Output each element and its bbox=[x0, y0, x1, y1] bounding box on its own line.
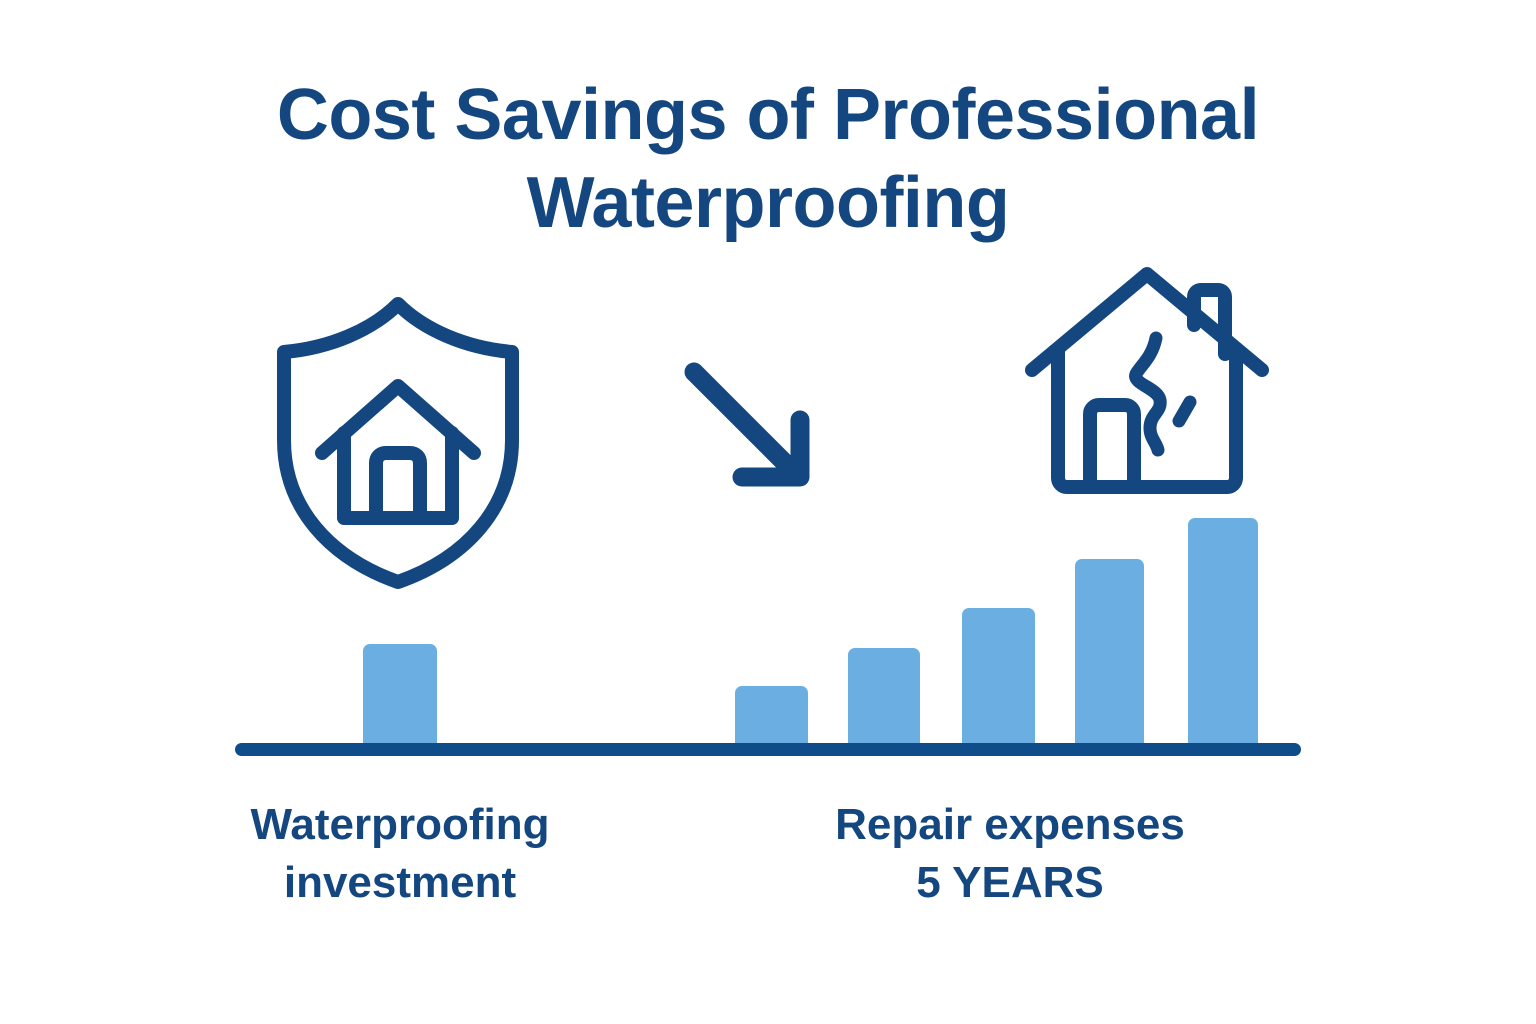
house-crack-fragment bbox=[1179, 402, 1190, 421]
caption-right-line-1: Repair expenses bbox=[835, 800, 1185, 849]
chart-baseline bbox=[235, 743, 1301, 756]
title-line-1: Cost Savings of Professional bbox=[277, 75, 1259, 155]
caption-left-line-2: investment bbox=[160, 854, 640, 912]
infographic-canvas: Cost Savings of Professional Waterproofi… bbox=[0, 0, 1536, 1024]
house-door bbox=[376, 453, 420, 518]
shield-outline bbox=[284, 304, 512, 582]
damaged-house-door bbox=[1090, 405, 1134, 487]
title-line-2: Waterproofing bbox=[527, 163, 1010, 243]
caption-waterproofing-investment: Waterproofing investment bbox=[160, 796, 640, 912]
cracked-house-icon bbox=[1022, 262, 1272, 498]
repair-year-4-bar bbox=[1075, 559, 1144, 743]
caption-repair-expenses: Repair expenses 5 YEARS bbox=[760, 796, 1260, 912]
arrow-shaft bbox=[694, 372, 798, 476]
repair-year-2-bar bbox=[848, 648, 920, 743]
waterproofing-investment-bar bbox=[363, 644, 437, 743]
repair-year-3-bar bbox=[962, 608, 1035, 743]
house-body bbox=[344, 433, 452, 518]
shield-house-icon bbox=[270, 290, 526, 590]
repair-year-1-bar bbox=[735, 686, 808, 743]
repair-year-5-bar bbox=[1188, 518, 1258, 743]
page-title: Cost Savings of Professional Waterproofi… bbox=[168, 72, 1368, 248]
caption-left-line-1: Waterproofing bbox=[251, 800, 550, 849]
caption-right-line-2: 5 YEARS bbox=[760, 854, 1260, 912]
arrow-down-right-icon bbox=[680, 358, 828, 504]
